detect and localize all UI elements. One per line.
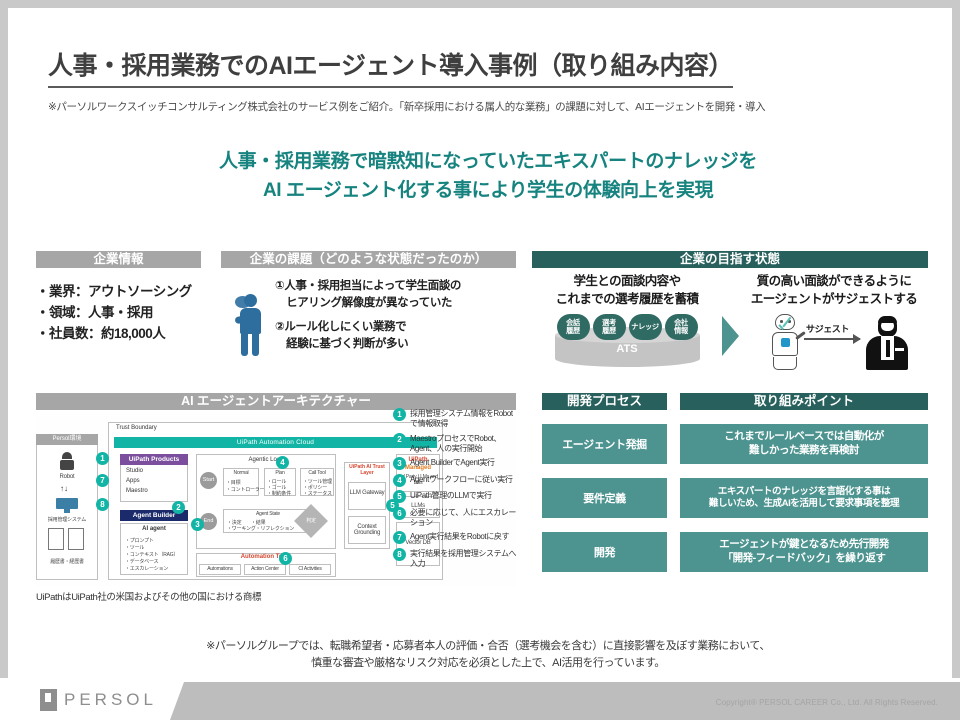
subtitle-note: ※パーソルワークスイッチコンサルティング株式会社のサービス例をご紹介。「新卒採用… (48, 99, 938, 114)
slide-page: 人事・採用業務でのAIエージェント導入事例（取り組み内容） ※パーソルワークスイ… (8, 8, 952, 712)
bottom-bar: PERSOL Copyright® PERSOL CAREER Co., Ltd… (0, 678, 960, 720)
agentic-loop-title: Agentic Loop (196, 457, 336, 463)
key-point-2: エキスパートのナレッジを言語化する事は 難しいため、生成AIを活用して要求事項を… (680, 478, 928, 518)
diagram-step-3: 3 (191, 518, 204, 531)
ats-system-label: 採用管理システム (36, 516, 98, 523)
company-issues-section: 企業の課題（どのような状態だったのか） ①人事・採用担当によって学生面談の ヒア… (221, 251, 516, 353)
step-text: 採用管理システム情報をRobotで情報取得 (410, 408, 518, 429)
disclaimer-note: ※パーソルグループでは、転職希望者・応募者本人の評価・合否（選考機会を含む）に直… (8, 638, 960, 672)
ai-agent-item: ・プロンプト (125, 537, 154, 544)
step-item: 5 UiPath管理のLLMで実行 (393, 490, 518, 503)
goal-right-line-2: エージェントがサジェストする (740, 290, 928, 308)
pill-knowledge: ナレッジ (629, 314, 662, 340)
disclaimer-line-2: 慎重な審査や厳格なリスク対応を必須とした上で、AI活用を行っています。 (8, 655, 960, 672)
step-text: MaestroプロセスでRobot、Agent、人の実行開始 (410, 433, 518, 454)
key-point-1: これまでルールベースでは自動化が 難しかった業務を再検討 (680, 424, 928, 464)
product-apps: Apps (126, 478, 140, 484)
step-text: Agentワークフローに従い実行 (410, 474, 513, 485)
development-process-header: 開発プロセス (542, 393, 667, 410)
company-info-item: ・領域：人事・採用 (36, 303, 201, 324)
step-text: Agent BuilderでAgent実行 (410, 457, 495, 468)
company-info-section: 企業情報 ・業界：アウトソーシング ・領域：人事・採用 ・社員数：約18,000… (36, 251, 201, 345)
issue-1-line-2: ヒアリング解像度が異なっていた (275, 295, 461, 312)
thinking-person-icon (221, 278, 275, 353)
company-info-item: ・社員数：約18,000人 (36, 324, 201, 345)
automation-tools-title: Automation Tools (196, 554, 336, 560)
step-item: 4 Agentワークフローに従い実行 (393, 474, 518, 487)
pill-selection-history: 選考履歴 (593, 314, 626, 340)
step-item: 2 MaestroプロセスでRobot、Agent、人の実行開始 (393, 433, 518, 454)
goal-accumulate-block: 学生との面談内容や これまでの選考履歴を蓄積 会話履歴 選考履歴 ナレッジ 会社… (532, 272, 722, 373)
uipath-products-header: UiPath Products (120, 454, 188, 465)
robot-suggest-scene: サジェスト (740, 312, 928, 374)
key-point-2-line-2: 難しいため、生成AIを活用して要求事項を整理 (709, 498, 899, 510)
key-point-3: エージェントが鍵となるため先行開発 「開発-フィードバック」を繰り返す (680, 532, 928, 572)
suggest-arrow-icon (804, 338, 860, 340)
step-text: UiPath管理のLLMで実行 (410, 490, 492, 501)
goal-right-line-1: 質の高い面談ができるように (740, 272, 928, 290)
company-goal-body: 学生との面談内容や これまでの選考履歴を蓄積 会話履歴 選考履歴 ナレッジ 会社… (532, 272, 928, 392)
documents-icon (48, 528, 86, 556)
key-point-3-line-2: 「開発-フィードバック」を繰り返す (719, 552, 888, 566)
llm-gateway-box (348, 482, 386, 510)
step-number: 4 (393, 474, 406, 487)
copyright-text: Copyright® PERSOL CAREER Co., Ltd. All R… (716, 698, 938, 707)
persol-logo-mark-icon (40, 689, 57, 711)
goal-suggest-block: 質の高い面談ができるように エージェントがサジェストする サジェスト (740, 272, 928, 374)
ai-trust-layer-title: UiPath AI Trust Layer (344, 464, 390, 476)
company-info-header: 企業情報 (36, 251, 201, 268)
plan-title: Plan (264, 470, 296, 476)
diagram-step-5: 5 (386, 499, 399, 512)
disclaimer-line-1: ※パーソルグループでは、転職希望者・応募者本人の評価・合否（選考機会を含む）に直… (8, 638, 960, 655)
up-down-arrow-icon: ↑↓ (60, 484, 68, 493)
persol-logo-text: PERSOL (64, 690, 157, 710)
call-tool-title: Call Tool (300, 470, 334, 476)
step-number: 7 (393, 531, 406, 544)
company-goal-header: 企業の目指す状態 (532, 251, 928, 268)
company-issues-header: 企業の課題（どのような状態だったのか） (221, 251, 516, 268)
person-figure-icon (235, 294, 265, 356)
process-step-3: 開発 (542, 532, 667, 572)
persol-env-label-bar: Persol環境 (36, 434, 98, 445)
call-tool-item: ・ステータス (303, 490, 332, 497)
trust-boundary-label: Trust Boundary (116, 425, 157, 431)
agent-state-item: ・ワーキング・リフレクション (227, 525, 294, 532)
automation-item: Automations (199, 566, 241, 572)
decision-label: 判定 (299, 517, 323, 524)
step-number: 3 (393, 457, 406, 470)
step-text: 実行結果を採用管理システムへ入力 (410, 548, 518, 569)
automation-item: Action Center (244, 566, 286, 572)
uipath-trademark-note: UiPathはUiPath社の米国およびその他の国における商標 (36, 589, 516, 603)
ai-agent-title: AI agent (120, 526, 188, 532)
product-maestro: Maestro (126, 488, 148, 494)
suggest-label: サジェスト (806, 322, 849, 335)
step-item: 8 実行結果を採用管理システムへ入力 (393, 548, 518, 569)
goal-left-line-2: これまでの選考履歴を蓄積 (532, 290, 722, 308)
diagram-step-8: 8 (96, 498, 109, 511)
pill-company-info: 会社情報 (665, 314, 698, 340)
businessperson-icon (866, 316, 908, 370)
pill-conversation-history: 会話履歴 (557, 314, 590, 340)
product-studio: Studio (126, 468, 143, 474)
step-number: 1 (393, 408, 406, 421)
process-step-1: エージェント発掘 (542, 424, 667, 464)
right-arrow-icon (722, 316, 739, 356)
automation-cloud-bar: UiPath Automation Cloud (114, 437, 437, 448)
headline-line-1: 人事・採用業務で暗黙知になっていたエキスパートのナレッジを (8, 148, 960, 177)
key-point-1-line-2: 難しかった業務を再検討 (724, 444, 883, 458)
development-process-section: 開発プロセス エージェント発掘 要件定義 開発 (542, 393, 667, 572)
goal-left-line-1: 学生との面談内容や (532, 272, 722, 290)
diagram-step-4: 4 (276, 456, 289, 469)
normal-item: ・コントローラー (226, 486, 264, 493)
robot-label: Robot (36, 474, 98, 480)
normal-item: ・目標 (226, 479, 240, 486)
step-text: 必要に応じて、人にエスカレーション (410, 507, 518, 528)
step-item: 1 採用管理システム情報をRobotで情報取得 (393, 408, 518, 429)
page-title: 人事・採用業務でのAIエージェント導入事例（取り組み内容） (48, 46, 733, 88)
step-item: 3 Agent BuilderでAgent実行 (393, 457, 518, 470)
step-item: 7 Agent実行結果をRobotに戻す (393, 531, 518, 544)
normal-title: Normal (223, 470, 259, 476)
diagram-step-2: 2 (172, 501, 185, 514)
company-issues-body: ①人事・採用担当によって学生面談の ヒアリング解像度が異なっていた ②ルール化し… (221, 278, 516, 353)
step-item: 6 必要に応じて、人にエスカレーション (393, 507, 518, 528)
headline-line-2: AI エージェント化する事により学生の体験向上を実現 (8, 177, 960, 206)
company-issues-text: ①人事・採用担当によって学生面談の ヒアリング解像度が異なっていた ②ルール化し… (275, 278, 461, 353)
issue-1-line-1: ①人事・採用担当によって学生面談の (275, 278, 461, 295)
issue-2-line-2: 経験に基づく判断が多い (275, 336, 461, 353)
persol-env-label: Persol環境 (36, 434, 98, 445)
plan-item: ・制約条件 (267, 490, 291, 497)
diagram-step-6: 6 (279, 552, 292, 565)
step-number: 8 (393, 548, 406, 561)
check-mark-icon (776, 318, 790, 334)
ats-label: ATS (555, 343, 700, 355)
headline-block: 人事・採用業務で暗黙知になっていたエキスパートのナレッジを AI エージェント化… (8, 148, 960, 205)
key-point-3-line-1: エージェントが鍵となるため先行開発 (719, 538, 888, 552)
step-number: 2 (393, 433, 406, 446)
ai-agent-item: ・データベース (125, 558, 158, 565)
company-goal-section: 企業の目指す状態 学生との面談内容や これまでの選考履歴を蓄積 会話履歴 選考履… (532, 251, 928, 392)
ai-agent-item: ・ツール (125, 544, 144, 551)
diagram-step-7: 7 (96, 474, 109, 487)
issue-2-line-1: ②ルール化しにくい業務で (275, 319, 461, 336)
diagram-step-1: 1 (96, 452, 109, 465)
context-grounding-label: Context Grounding (348, 524, 386, 536)
company-info-list: ・業界：アウトソーシング ・領域：人事・採用 ・社員数：約18,000人 (36, 282, 201, 345)
title-wrapper: 人事・採用業務でのAIエージェント導入事例（取り組み内容） (48, 46, 928, 88)
ai-agent-item: ・エスカレーション (125, 565, 168, 572)
company-info-item: ・業界：アウトソーシング (36, 282, 201, 303)
documents-label: 履歴書・経歴書 (36, 558, 98, 565)
key-point-2-line-1: エキスパートのナレッジを言語化する事は (709, 486, 899, 498)
key-points-header: 取り組みポイント (680, 393, 928, 410)
process-step-2: 要件定義 (542, 478, 667, 518)
persol-logo: PERSOL (40, 689, 157, 711)
robot-glyph-icon (56, 452, 78, 472)
architecture-steps-list: 1 採用管理システム情報をRobotで情報取得 2 MaestroプロセスでRo… (393, 408, 518, 572)
data-source-pills: 会話履歴 選考履歴 ナレッジ 会社情報 (532, 314, 722, 340)
ai-agent-item: ・コンテキスト（RAG） (125, 551, 178, 558)
start-node: Start (200, 472, 217, 489)
key-points-section: 取り組みポイント これまでルールベースでは自動化が 難しかった業務を再検討 エキ… (680, 393, 928, 572)
llm-gateway-label: LLM Gateway (348, 490, 386, 496)
step-text: Agent実行結果をRobotに戻す (410, 531, 509, 542)
monitor-icon (56, 498, 78, 514)
automation-item: CI Activities (289, 566, 331, 572)
key-point-1-line-1: これまでルールベースでは自動化が (724, 430, 883, 444)
